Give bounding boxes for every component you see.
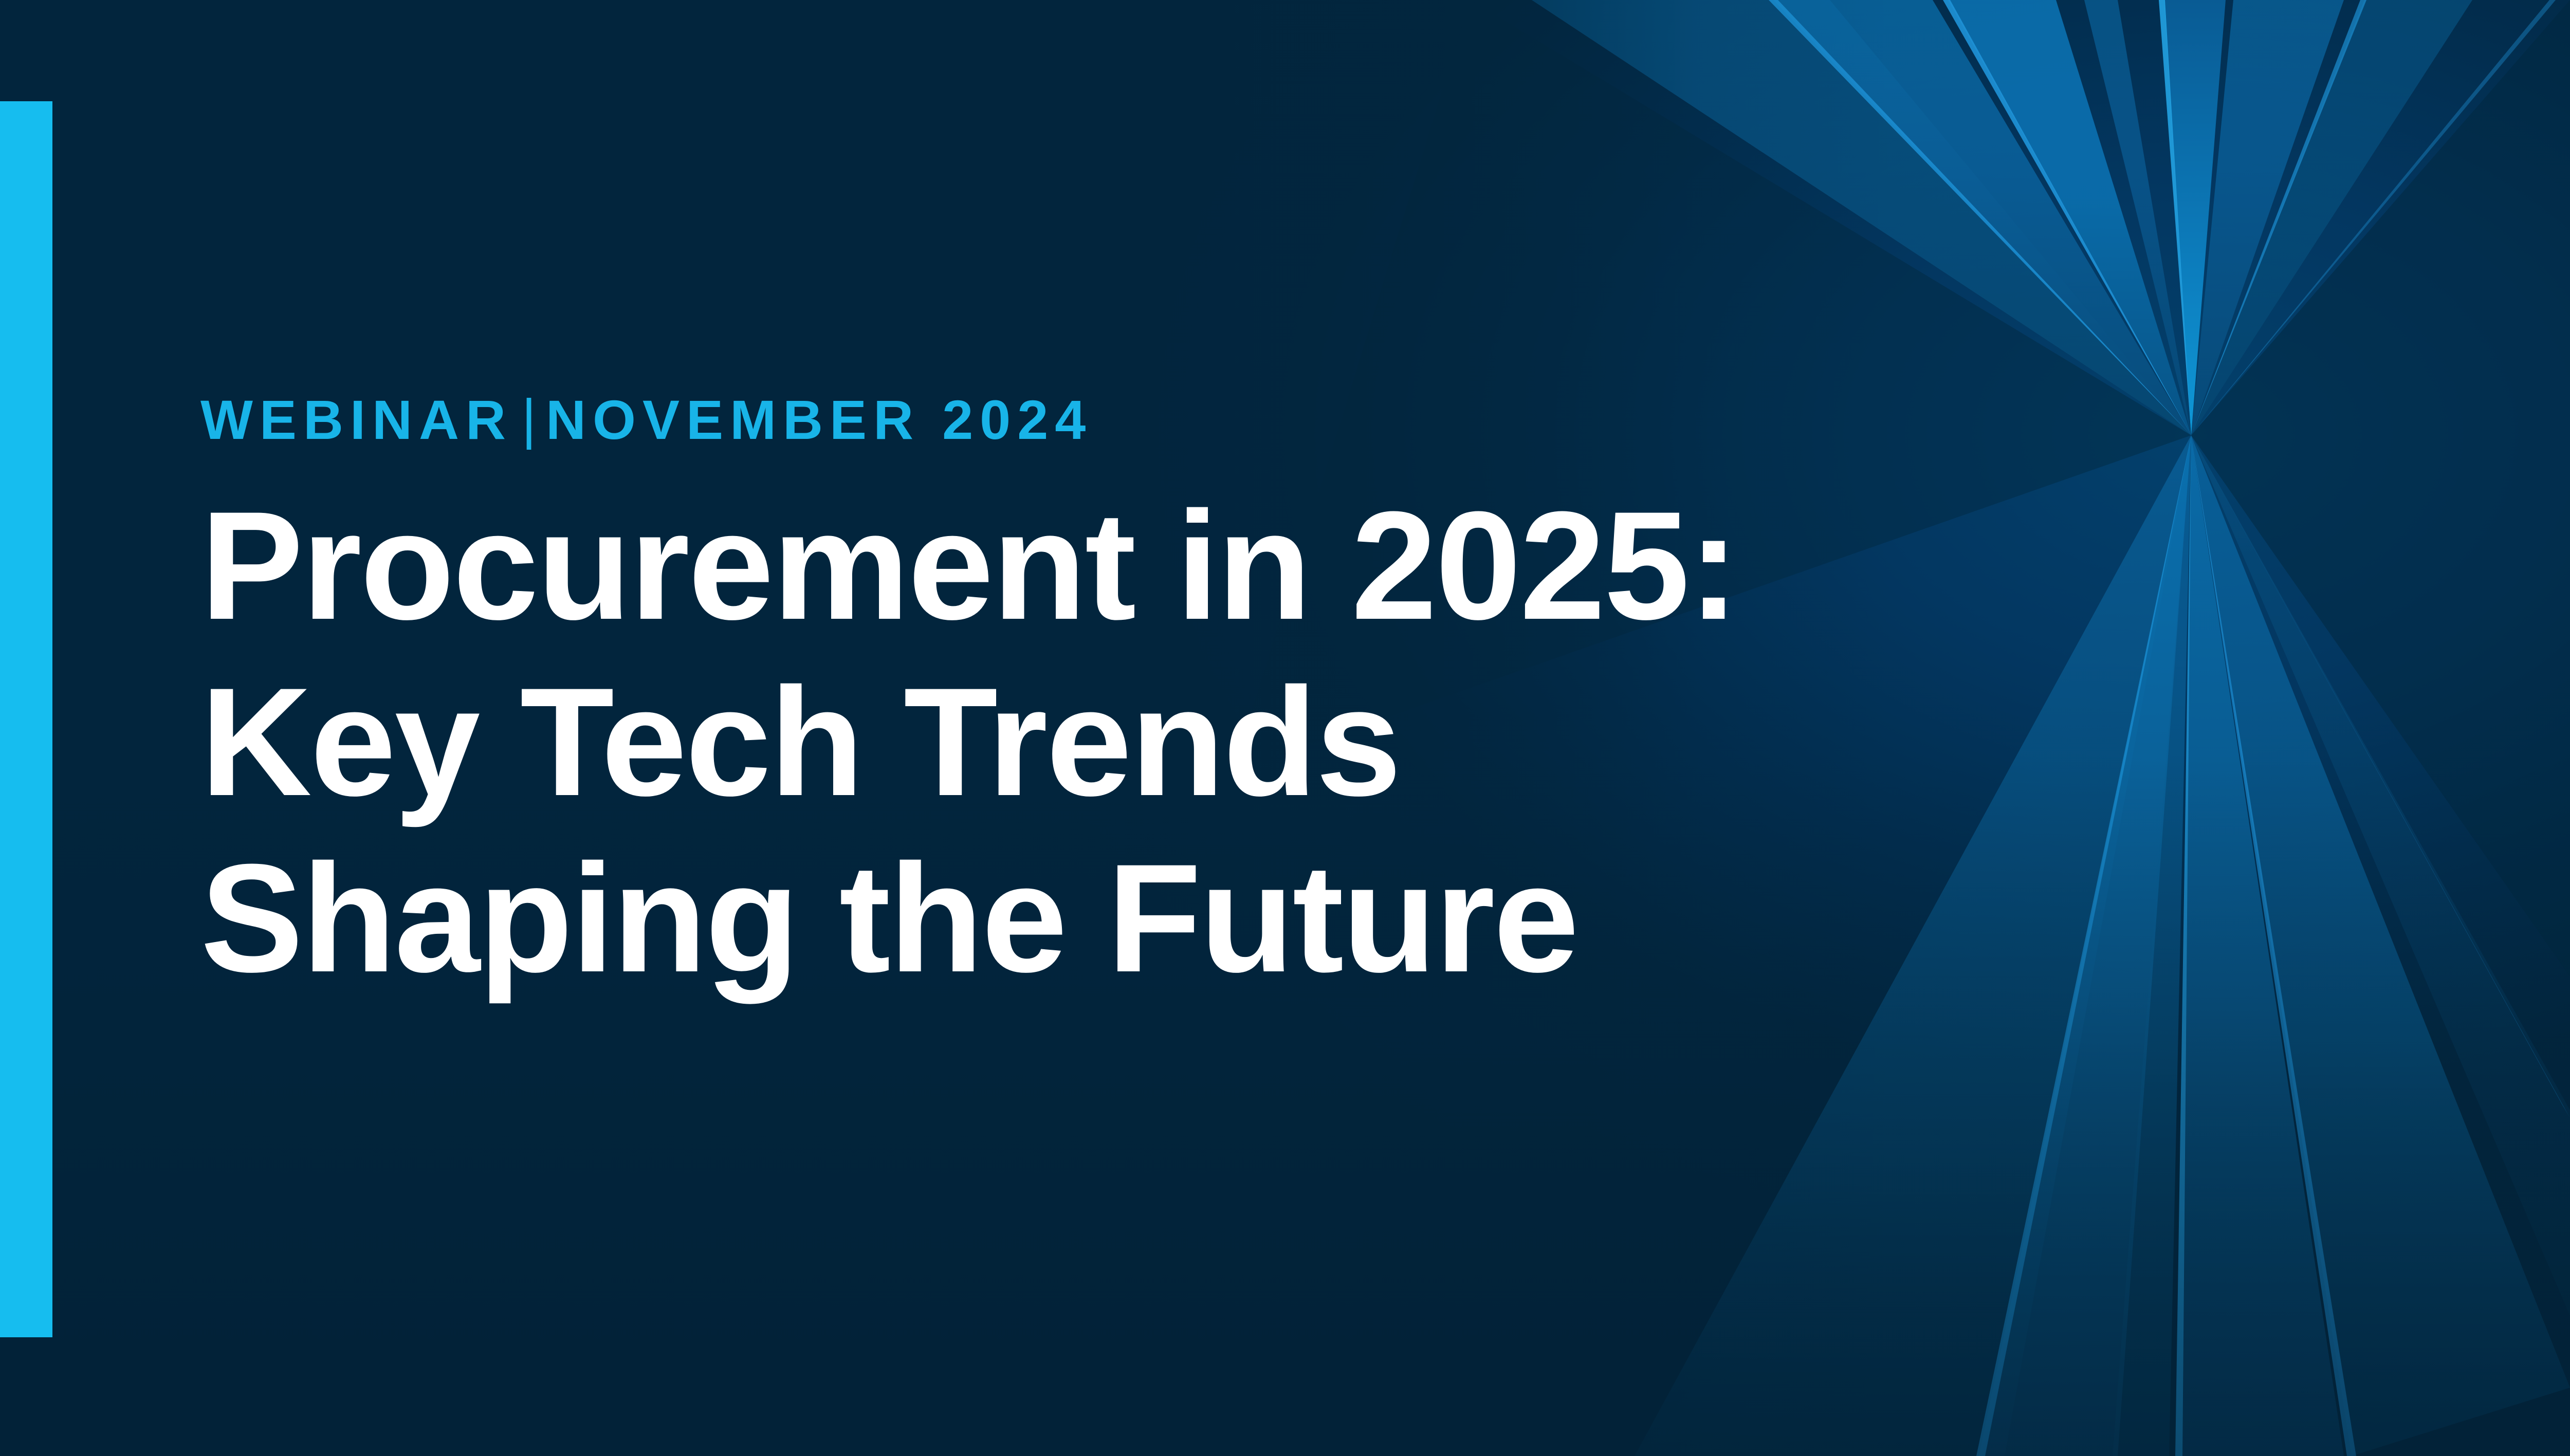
eyebrow-kicker: WEBINAR (200, 391, 512, 449)
eyebrow: WEBINAR | NOVEMBER 2024 (200, 391, 1794, 449)
headline-line-1: Procurement in 2025: (200, 477, 1794, 654)
eyebrow-date: NOVEMBER 2024 (546, 391, 1092, 449)
headline-line-2: Key Tech Trends (200, 654, 1794, 830)
content-block: WEBINAR | NOVEMBER 2024 Procurement in 2… (200, 391, 1794, 1109)
page-title: Procurement in 2025: Key Tech Trends Sha… (200, 477, 1794, 1006)
eyebrow-separator: | (512, 390, 546, 448)
banner-canvas: WEBINAR | NOVEMBER 2024 Procurement in 2… (0, 0, 2570, 1456)
accent-bar (0, 101, 52, 1337)
headline-line-3: Shaping the Future (200, 830, 1794, 1006)
